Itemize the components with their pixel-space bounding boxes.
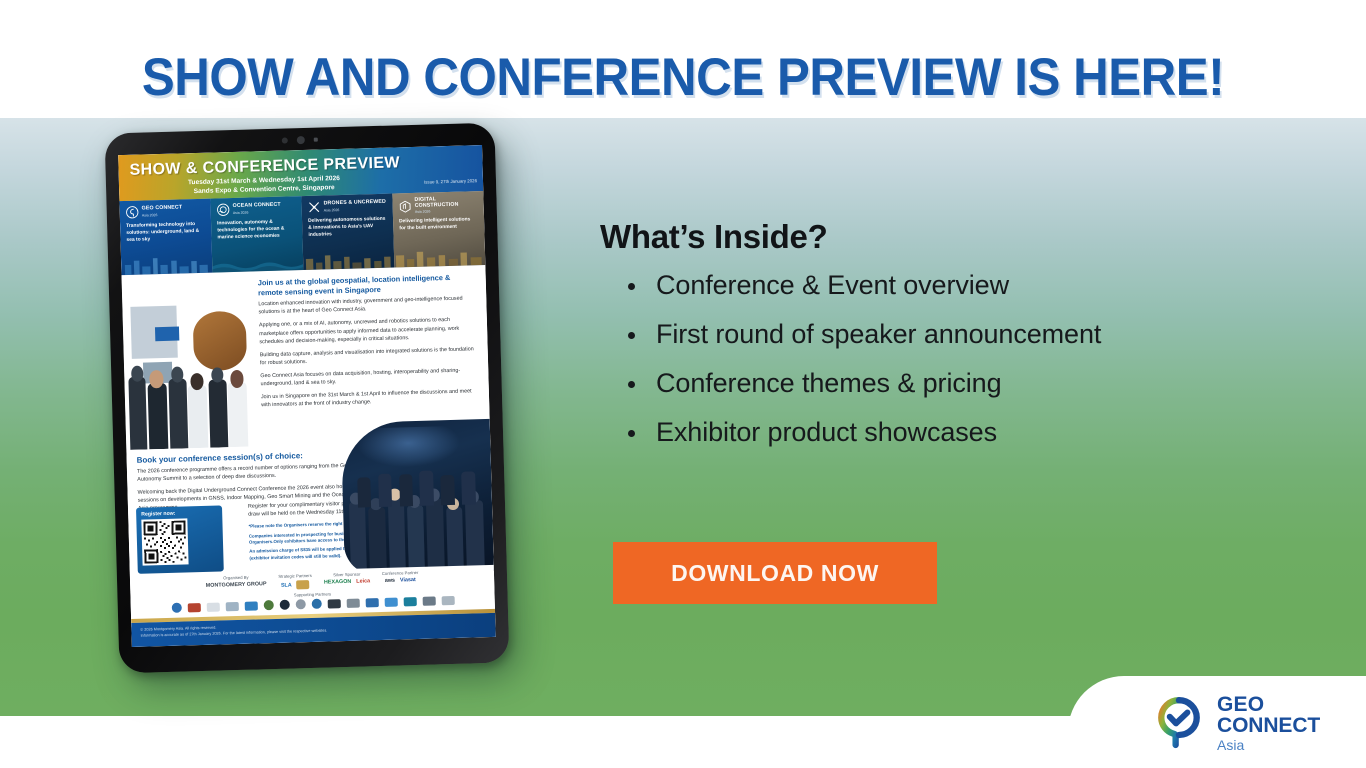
qr-code-icon[interactable] (141, 518, 188, 565)
partner-logo-mark (171, 603, 181, 613)
partner-logo-mark (225, 602, 238, 611)
logo-line-geo: GEO (1217, 694, 1320, 715)
partner-logo-mark (263, 600, 273, 610)
ocean-waves-icon (212, 250, 304, 273)
geo-connect-asia-logo: GEO CONNECT Asia (1152, 694, 1320, 752)
brochure-page: SHOW & CONFERENCE PREVIEW Tuesday 31st M… (118, 145, 496, 647)
tile-desc: Delivering autonomous solutions & innova… (308, 217, 388, 240)
partner-label: Conference Partner (382, 570, 419, 576)
exhibition-photo (121, 271, 260, 450)
tile-head: DIGITAL CONSTRUCTION Asia 2026 (398, 196, 477, 215)
partner-logo: SLA (281, 582, 292, 588)
logo-line-connect: CONNECT (1217, 715, 1320, 736)
partner-logo-mark (297, 580, 310, 589)
camera-lens (297, 136, 305, 144)
partner-logo-mark (365, 598, 378, 607)
brochure-body: Join us at the global geospatial, locati… (250, 267, 491, 444)
body-paragraph: Geo Connect Asia focuses on data acquisi… (260, 366, 479, 388)
geo-pin-logo-icon (1152, 696, 1206, 750)
partner-logo: Leica (356, 578, 370, 584)
tile-head: DRONES & UNCREWED Asia 2026 (307, 199, 386, 214)
qr-code-svg (143, 520, 186, 563)
tile-head: GEO CONNECT Asia 2026 (126, 204, 205, 219)
partner-logo: Viasat (400, 577, 416, 583)
tile-sub: Asia 2026 (324, 206, 386, 212)
tile-name-block: DIGITAL CONSTRUCTION Asia 2026 (414, 196, 477, 214)
partner-group-silver-sponsor: Silver Sponsor HEXAGON Leica (324, 571, 370, 585)
partner-logo: aws (385, 578, 395, 584)
tablet-camera-icon (282, 136, 318, 145)
partner-logos: aws Viasat (382, 577, 419, 584)
body-paragraph: Building data capture, analysis and visu… (260, 345, 479, 367)
partner-logos: SLA (278, 580, 312, 590)
stage-light (356, 426, 461, 468)
whats-inside-heading: What’s Inside? (600, 218, 1300, 256)
whats-inside-panel: What’s Inside? Conference & Event overvi… (600, 218, 1300, 468)
hexagon-building-icon (399, 200, 412, 213)
register-qr-block[interactable]: Register now: (136, 505, 224, 573)
list-item: Exhibitor product showcases (622, 419, 1300, 446)
partner-logo-mark (187, 603, 200, 612)
tablet-screen: SHOW & CONFERENCE PREVIEW Tuesday 31st M… (118, 145, 496, 647)
partner-group-organised-by: Organised By MONTGOMERY GROUP (205, 574, 266, 589)
partner-logo-mark (441, 595, 454, 604)
tablet-mockup: SHOW & CONFERENCE PREVIEW Tuesday 31st M… (105, 123, 510, 674)
partner-logo: MONTGOMERY GROUP (206, 581, 267, 589)
register-label: Register now: (141, 510, 217, 518)
partner-label: Organised By (205, 574, 266, 581)
geo-pin-icon (126, 206, 139, 219)
partner-label: Silver Sponsor (324, 571, 370, 577)
tile-sub: Asia 2026 (142, 212, 183, 217)
brochure-issue: Issue 9, 27th January 2026 (424, 178, 477, 184)
tile-name-block: DRONES & UNCREWED Asia 2026 (324, 200, 387, 212)
partner-logo-mark (403, 597, 416, 606)
partner-logos: HEXAGON Leica (324, 578, 370, 585)
brand-tile-geo-connect: GEO CONNECT Asia 2026 Transforming techn… (119, 199, 212, 276)
city-skyline-icon (303, 248, 395, 271)
whats-inside-list: Conference & Event overview First round … (622, 272, 1300, 446)
tile-desc: Delivering intelligent solutions for the… (399, 217, 478, 233)
logo-line-asia: Asia (1217, 738, 1320, 752)
partner-logo-mark (327, 599, 340, 608)
logo-text: GEO CONNECT Asia (1217, 694, 1320, 752)
auditorium-photo (341, 419, 494, 575)
partner-logo-mark (384, 597, 397, 606)
tile-desc: Innovation, autonomy & technologies for … (217, 219, 297, 242)
download-now-button[interactable]: DOWNLOAD NOW (613, 542, 937, 604)
brand-tile-drones-uncrewed: DRONES & UNCREWED Asia 2026 Delivering a… (301, 194, 394, 271)
partner-logo: HEXAGON (324, 579, 351, 586)
tile-sub: Asia 2026 (415, 209, 478, 215)
tile-name: DIGITAL CONSTRUCTION (414, 196, 477, 210)
city-skyline-icon (394, 245, 486, 268)
page-title: SHOW AND CONFERENCE PREVIEW IS HERE! (48, 47, 1318, 108)
partner-logo-mark (279, 600, 289, 610)
ocean-wave-icon (217, 203, 230, 216)
body-paragraph: Applying one, or a mix of AI, autonomy, … (259, 316, 479, 346)
brand-tiles: GEO CONNECT Asia 2026 Transforming techn… (119, 191, 485, 275)
body-paragraph: Location enhanced innovation with indust… (258, 294, 477, 316)
city-skyline-icon (121, 253, 213, 276)
partner-group-conference-partner: Conference Partner aws Viasat (382, 570, 419, 584)
promo-banner: SHOW AND CONFERENCE PREVIEW IS HERE! SHO… (0, 0, 1366, 768)
list-item: Conference themes & pricing (622, 370, 1300, 397)
body-paragraph: Join us in Singapore on the 31st March &… (261, 387, 480, 409)
partner-logo-mark (311, 599, 321, 609)
partner-logos: MONTGOMERY GROUP (206, 581, 267, 589)
booking-paragraph: The 2026 conference programme offers a r… (137, 461, 375, 484)
partner-logo-mark (295, 599, 305, 609)
brand-tile-digital-construction: DIGITAL CONSTRUCTION Asia 2026 Deliverin… (392, 191, 485, 268)
list-item: First round of speaker announcement (622, 321, 1300, 348)
camera-sensor (314, 138, 318, 142)
body-heading: Join us at the global geospatial, locati… (258, 272, 477, 297)
drone-icon (307, 201, 320, 214)
partner-group-strategic: Strategic Partners SLA (278, 573, 312, 590)
tile-desc: Transforming technology into solutions: … (126, 222, 206, 245)
tile-head: OCEAN CONNECT Asia 2026 (217, 201, 296, 216)
partner-label: Strategic Partners (278, 573, 312, 579)
tile-sub: Asia 2026 (233, 209, 281, 214)
partner-logo-mark (422, 596, 435, 605)
camera-dot (282, 137, 288, 143)
list-item: Conference & Event overview (622, 272, 1300, 299)
brand-tile-ocean-connect: OCEAN CONNECT Asia 2026 Innovation, auto… (210, 196, 303, 273)
partner-logo-mark (244, 601, 257, 610)
partner-logo-mark (206, 602, 219, 611)
partner-logo-mark (346, 598, 359, 607)
tile-name-block: GEO CONNECT Asia 2026 (142, 206, 183, 218)
tile-name-block: OCEAN CONNECT Asia 2026 (233, 203, 281, 215)
